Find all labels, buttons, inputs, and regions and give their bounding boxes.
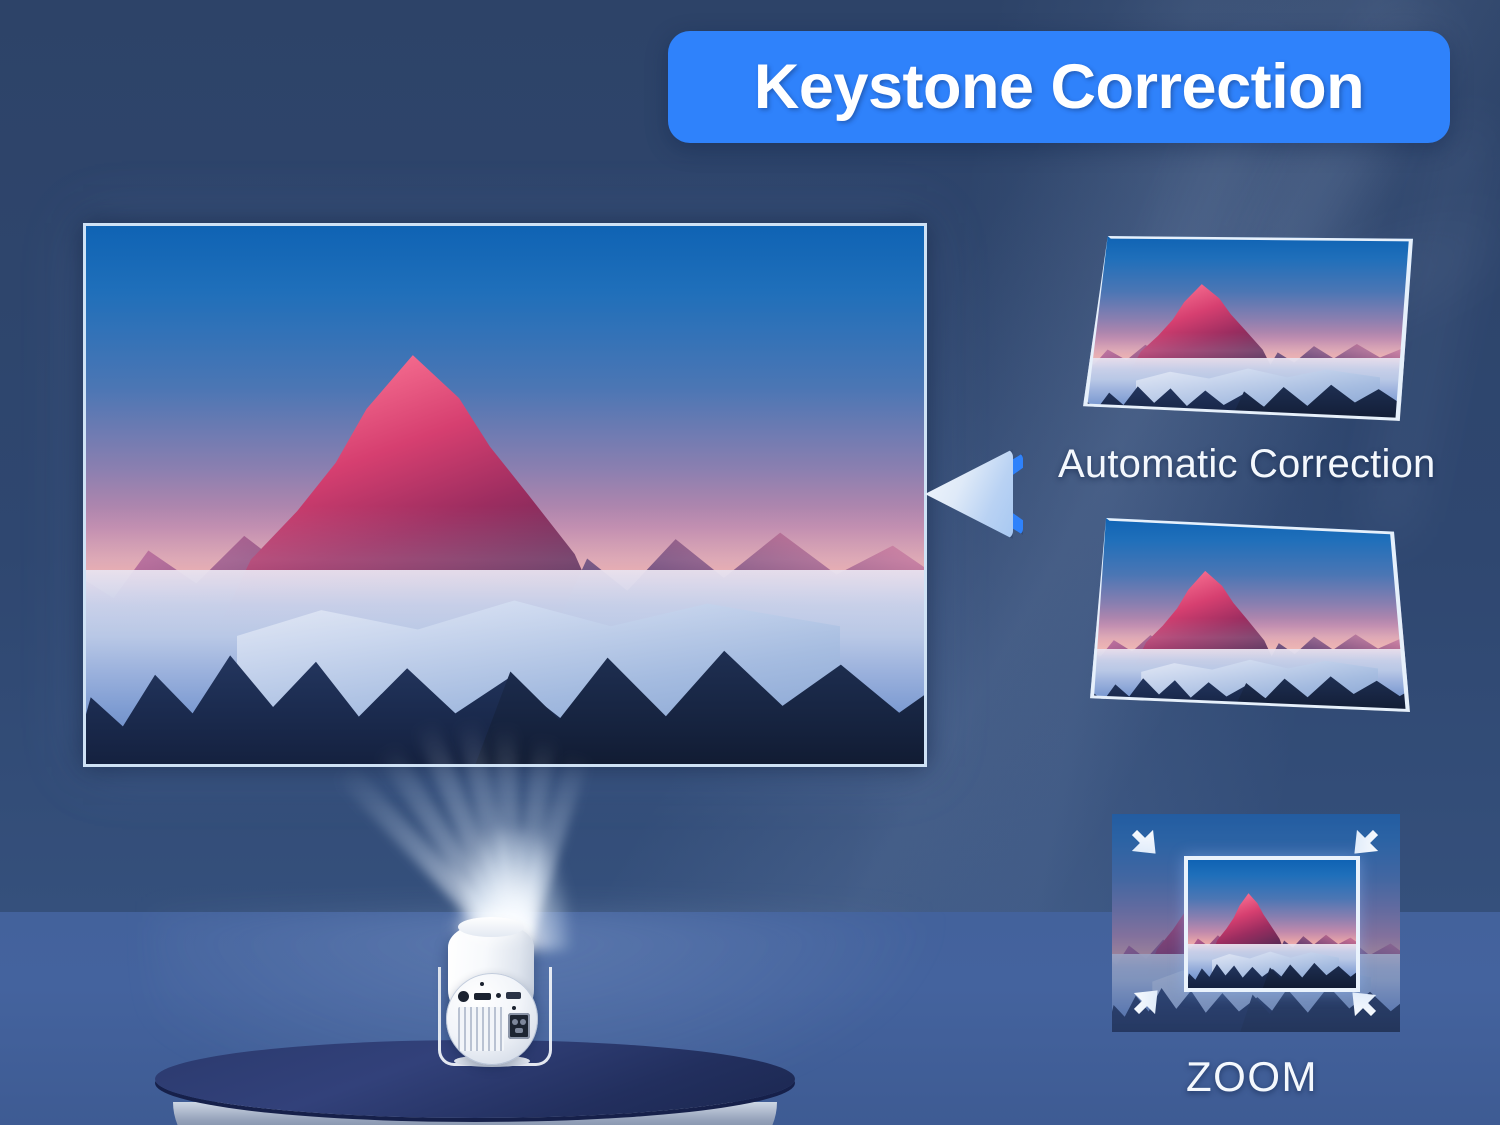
- vent-slots-icon: [458, 1007, 504, 1051]
- zoom-inner-projection: [1184, 856, 1360, 992]
- double-chevron-left-icon: [925, 447, 1025, 542]
- usb-port: [506, 992, 521, 999]
- power-socket: [508, 1013, 530, 1039]
- aux-port: [496, 993, 501, 998]
- projector-rear-panel: [446, 973, 538, 1065]
- chevron-white: [925, 449, 1013, 539]
- projected-mountain-screen: [83, 223, 927, 767]
- title-banner: Keystone Correction: [668, 31, 1450, 143]
- av-jack-port: [458, 991, 469, 1002]
- trapezoid-image: [1083, 236, 1413, 421]
- automatic-correction-label: Automatic Correction: [1058, 442, 1435, 487]
- hdmi-port: [474, 993, 491, 1000]
- atmospheric-haze: [86, 226, 924, 764]
- projector-device: [430, 915, 556, 1065]
- status-button: [480, 982, 484, 986]
- atmospheric-haze: [1083, 236, 1413, 421]
- trapezoid-image: [1090, 516, 1410, 712]
- uncorrected-trapezoid-top: [1083, 236, 1413, 421]
- led-indicator: [512, 1006, 516, 1010]
- zoom-demo: [1112, 814, 1400, 1032]
- atmospheric-haze: [1090, 516, 1410, 712]
- projector-lens: [458, 917, 524, 937]
- zoom-label: ZOOM: [1186, 1053, 1318, 1101]
- product-feature-illustration: Keystone Correction: [0, 0, 1500, 1125]
- page-title: Keystone Correction: [754, 51, 1364, 123]
- uncorrected-trapezoid-bottom: [1090, 516, 1410, 712]
